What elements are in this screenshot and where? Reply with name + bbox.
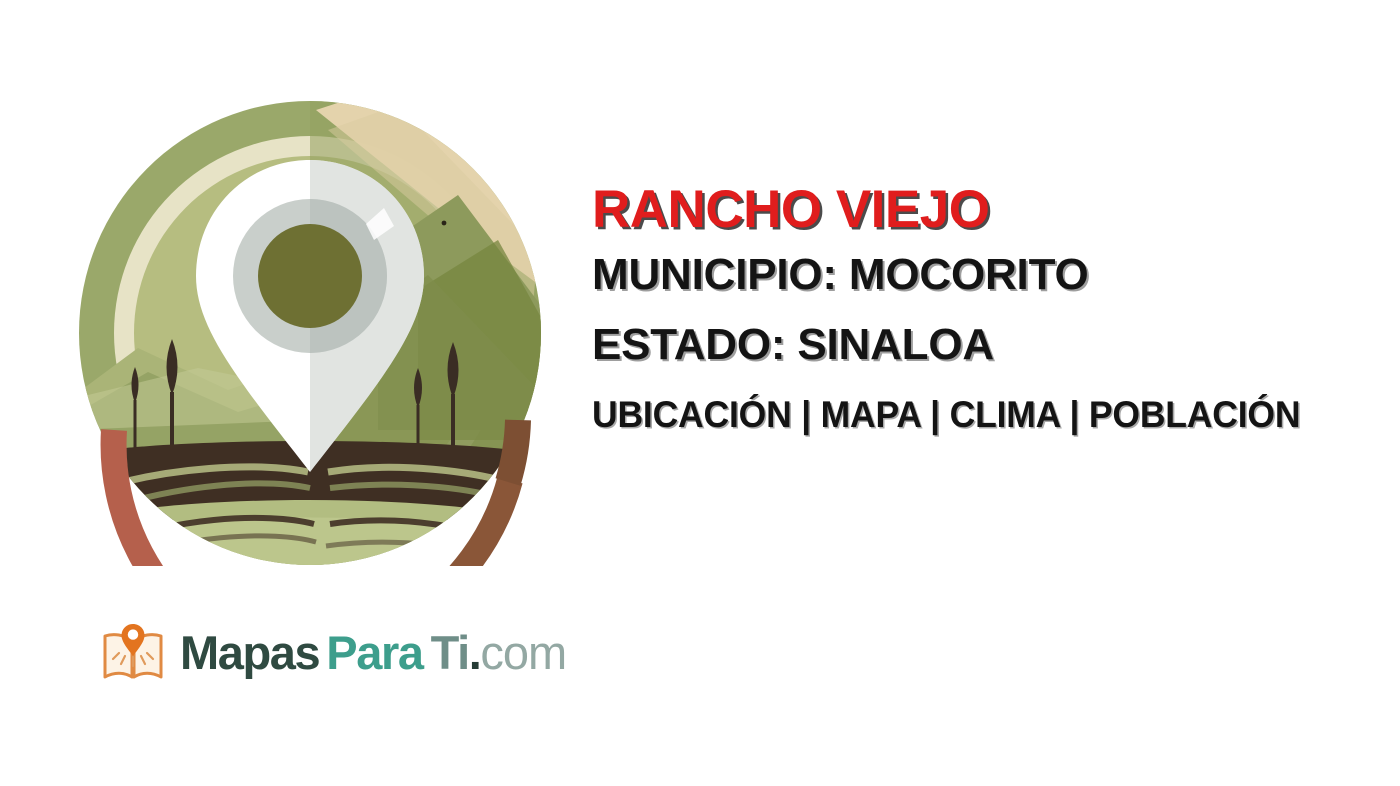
page-title: RANCHO VIEJO <box>592 180 1382 240</box>
open-book-map-pin-icon <box>100 620 166 686</box>
wordmark-com: com <box>480 624 566 682</box>
wordmark-mapas: Mapas <box>180 624 319 682</box>
page-root: RANCHO VIEJO MUNICIPIO: MOCORITO ESTADO:… <box>0 0 1400 786</box>
wordmark-ti: Ti <box>431 624 469 682</box>
wordmark-dot: . <box>469 624 481 682</box>
estado-label: ESTADO: SINALOA <box>592 318 1382 372</box>
brand-logo[interactable]: Mapas Para Ti . com <box>100 620 566 686</box>
brand-wordmark: Mapas Para Ti . com <box>180 624 566 682</box>
rural-landscape-location-pin-emblem <box>78 100 542 566</box>
place-info-block: RANCHO VIEJO MUNICIPIO: MOCORITO ESTADO:… <box>592 180 1382 438</box>
wordmark-para: Para <box>326 624 422 682</box>
sections-nav-label: UBICACIÓN | MAPA | CLIMA | POBLACIÓN <box>592 392 1350 438</box>
municipio-label: MUNICIPIO: MOCORITO <box>592 248 1382 302</box>
